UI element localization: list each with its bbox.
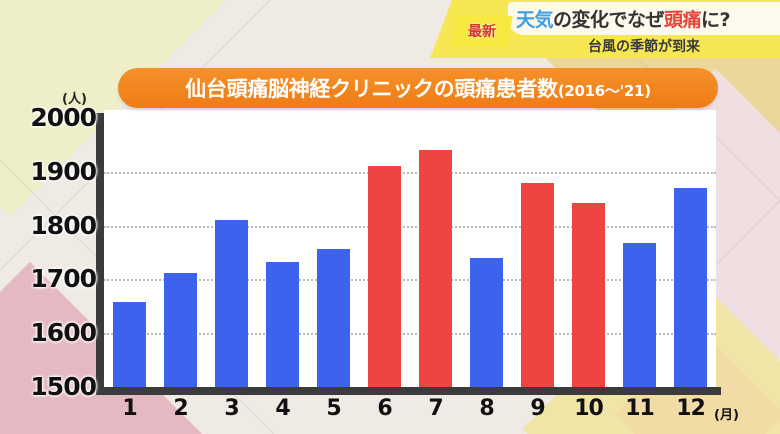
bar-month-7[interactable]: [419, 150, 452, 387]
header-title-part-2: 頭痛: [664, 9, 701, 31]
x-axis-labels: 123456789101112: [104, 396, 716, 421]
bar-series: [104, 118, 716, 387]
x-axis-unit-label: (月): [714, 404, 739, 423]
status-badge-latest: 最新: [451, 16, 512, 46]
bar-slot-5: [308, 118, 359, 387]
bar-month-3[interactable]: [215, 220, 248, 387]
bar-slot-10: [563, 118, 614, 387]
x-axis-label-5: 5: [308, 396, 359, 421]
y-axis-label-1700: 1700: [30, 266, 96, 291]
bar-slot-11: [614, 118, 665, 387]
header-title-pill: 天気の変化でなぜ頭痛に?: [508, 2, 780, 35]
x-axis-label-11: 11: [614, 396, 665, 421]
x-axis-label-10: 10: [563, 396, 614, 421]
bar-month-6[interactable]: [368, 166, 401, 387]
bar-slot-8: [461, 118, 512, 387]
x-axis-label-2: 2: [155, 396, 206, 421]
header-title-part-1: の変化でなぜ: [553, 9, 664, 31]
x-axis-label-8: 8: [461, 396, 512, 421]
bar-month-4[interactable]: [266, 262, 299, 387]
x-axis-label-9: 9: [512, 396, 563, 421]
bar-slot-7: [410, 118, 461, 387]
bar-month-11[interactable]: [623, 243, 656, 387]
x-axis-label-1: 1: [104, 396, 155, 421]
x-axis-label-12: 12: [665, 396, 716, 421]
x-axis-label-3: 3: [206, 396, 257, 421]
bar-month-9[interactable]: [521, 183, 554, 387]
bar-slot-12: [665, 118, 716, 387]
bar-month-12[interactable]: [674, 188, 707, 387]
bar-month-10[interactable]: [572, 203, 605, 387]
y-axis-label-1600: 1600: [30, 320, 96, 345]
y-axis-line: [96, 113, 104, 392]
bar-slot-6: [359, 118, 410, 387]
header-title: 天気の変化でなぜ頭痛に?: [516, 5, 730, 32]
y-axis-label-1500: 1500: [30, 374, 96, 399]
header-subtitle: 台風の季節が到来: [508, 36, 780, 56]
header-title-part-3: に?: [701, 9, 730, 31]
bar-slot-1: [104, 118, 155, 387]
bar-month-5[interactable]: [317, 249, 350, 387]
x-axis-label-7: 7: [410, 396, 461, 421]
bar-month-1[interactable]: [113, 302, 146, 387]
plot-area-top-extension: [104, 110, 716, 118]
header-title-part-0: 天気: [516, 9, 553, 31]
bar-slot-9: [512, 118, 563, 387]
x-axis-label-6: 6: [359, 396, 410, 421]
x-axis-line: [96, 387, 721, 395]
news-header-banner: 最新 天気の変化でなぜ頭痛に? 台風の季節が到来: [430, 0, 780, 58]
badge-label: 最新: [468, 21, 496, 41]
y-axis-label-1900: 1900: [30, 159, 96, 184]
bar-slot-4: [257, 118, 308, 387]
y-axis-label-2000: 2000: [30, 105, 96, 130]
bar-slot-2: [155, 118, 206, 387]
chart-title-years: (2016〜'21): [558, 82, 651, 100]
chart-title-pill: 仙台頭痛脳神経クリニックの頭痛患者数(2016〜'21): [118, 68, 718, 108]
bar-slot-3: [206, 118, 257, 387]
chart-title: 仙台頭痛脳神経クリニックの頭痛患者数(2016〜'21): [185, 73, 651, 103]
bar-month-8[interactable]: [470, 258, 503, 387]
chart-title-main: 仙台頭痛脳神経クリニックの頭痛患者数: [185, 77, 558, 101]
bar-month-2[interactable]: [164, 273, 197, 387]
x-axis-label-4: 4: [257, 396, 308, 421]
y-axis-label-1800: 1800: [30, 213, 96, 238]
